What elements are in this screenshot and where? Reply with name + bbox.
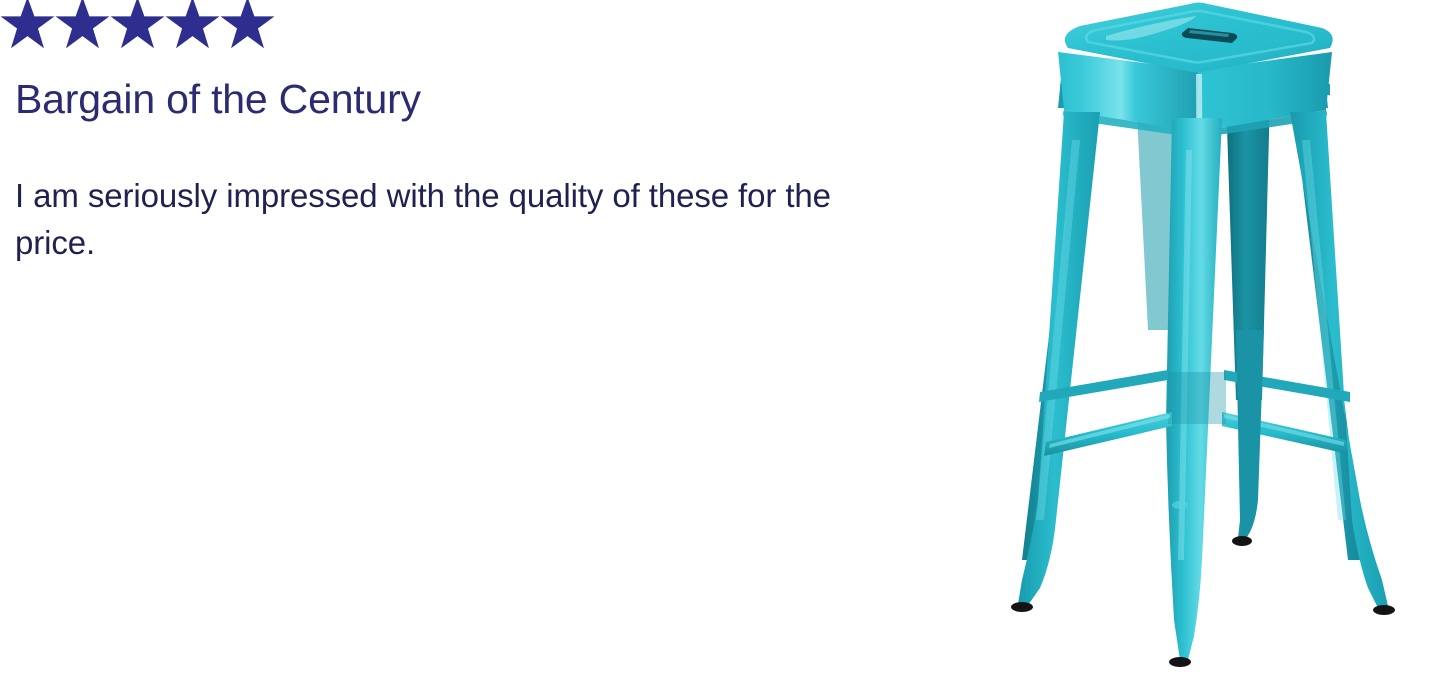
star-rating [0, 0, 275, 51]
star-icon [110, 0, 165, 51]
stool-foot-cap-rear-center [1232, 536, 1252, 546]
stool-foot-cap-right [1373, 605, 1395, 615]
stool-foot-cap-front-center [1169, 657, 1191, 667]
stool-footrest-center-shadow [1168, 372, 1226, 424]
star-icon [55, 0, 110, 51]
product-image [940, 0, 1445, 685]
review-body-text: I am seriously impressed with the qualit… [15, 172, 920, 266]
review-title: Bargain of the Century [15, 76, 421, 123]
stool-leg-dimple [1172, 501, 1188, 509]
star-icon [0, 0, 55, 51]
star-icon [165, 0, 220, 51]
star-icon [220, 0, 275, 51]
review-panel: Bargain of the Century I am seriously im… [0, 0, 940, 685]
review-banner: Bargain of the Century I am seriously im… [0, 0, 1445, 685]
stool-foot-cap-left [1011, 602, 1033, 612]
